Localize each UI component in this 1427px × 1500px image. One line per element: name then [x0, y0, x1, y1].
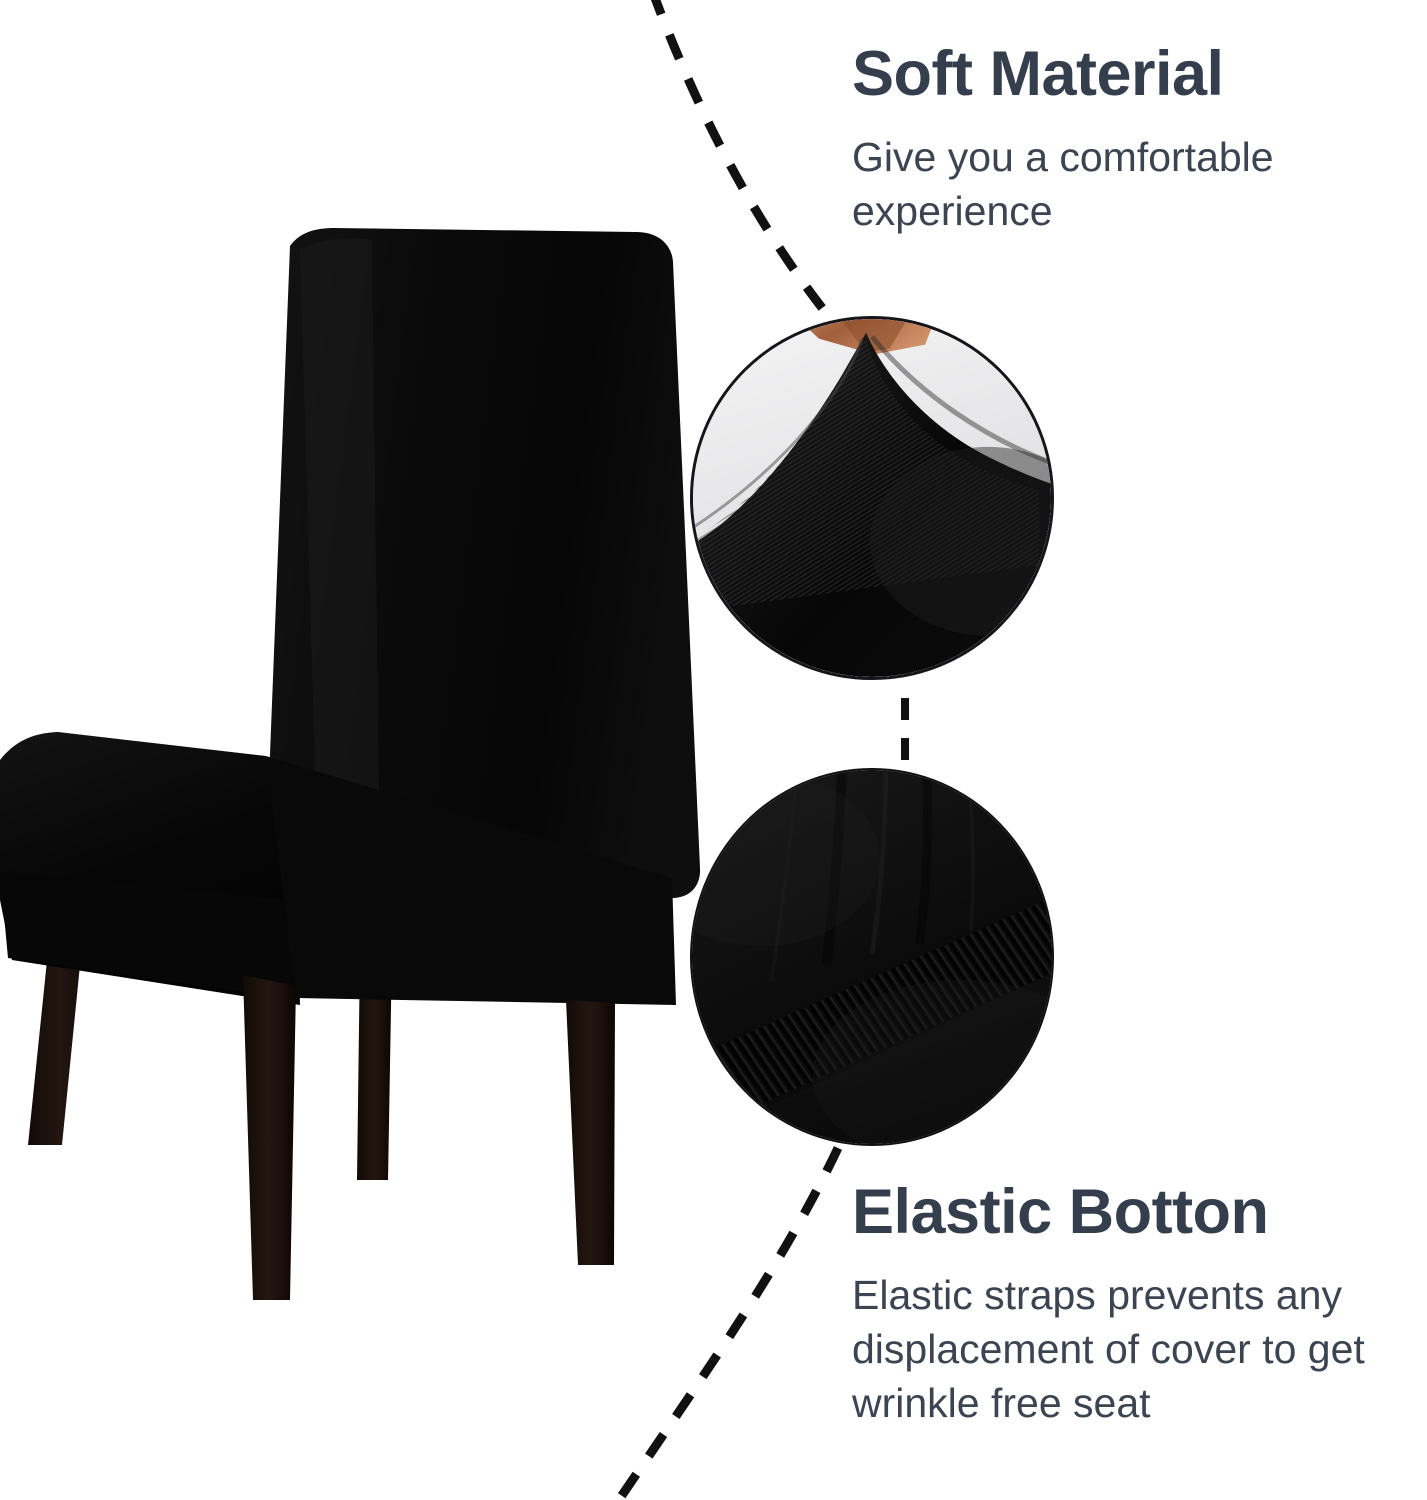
infographic-canvas: Soft Material Give you a comfortable exp…	[0, 0, 1427, 1500]
detail-photo-elastic-hem-closeup	[690, 768, 1054, 1146]
feature-headline-elastic-botton: Elastic Botton	[852, 1178, 1412, 1246]
fabric-texture-svg	[693, 319, 1051, 677]
chair-leg-front-right	[566, 1000, 615, 1265]
feature-block-elastic-botton: Elastic Botton Elastic straps prevents a…	[852, 1178, 1412, 1430]
elastic-hem-svg	[692, 770, 1052, 1144]
feature-headline-soft-material: Soft Material	[852, 40, 1392, 108]
chair-svg	[0, 0, 720, 1330]
product-image-chair-with-black-slipcover	[0, 0, 720, 1330]
feature-block-soft-material: Soft Material Give you a comfortable exp…	[852, 40, 1392, 238]
detail-photo-fabric-texture-closeup	[690, 316, 1054, 680]
chair-leg-front-left	[243, 975, 296, 1300]
feature-description-elastic-botton: Elastic straps prevents any displacement…	[852, 1268, 1412, 1430]
feature-description-soft-material: Give you a comfortable experience	[852, 130, 1392, 238]
